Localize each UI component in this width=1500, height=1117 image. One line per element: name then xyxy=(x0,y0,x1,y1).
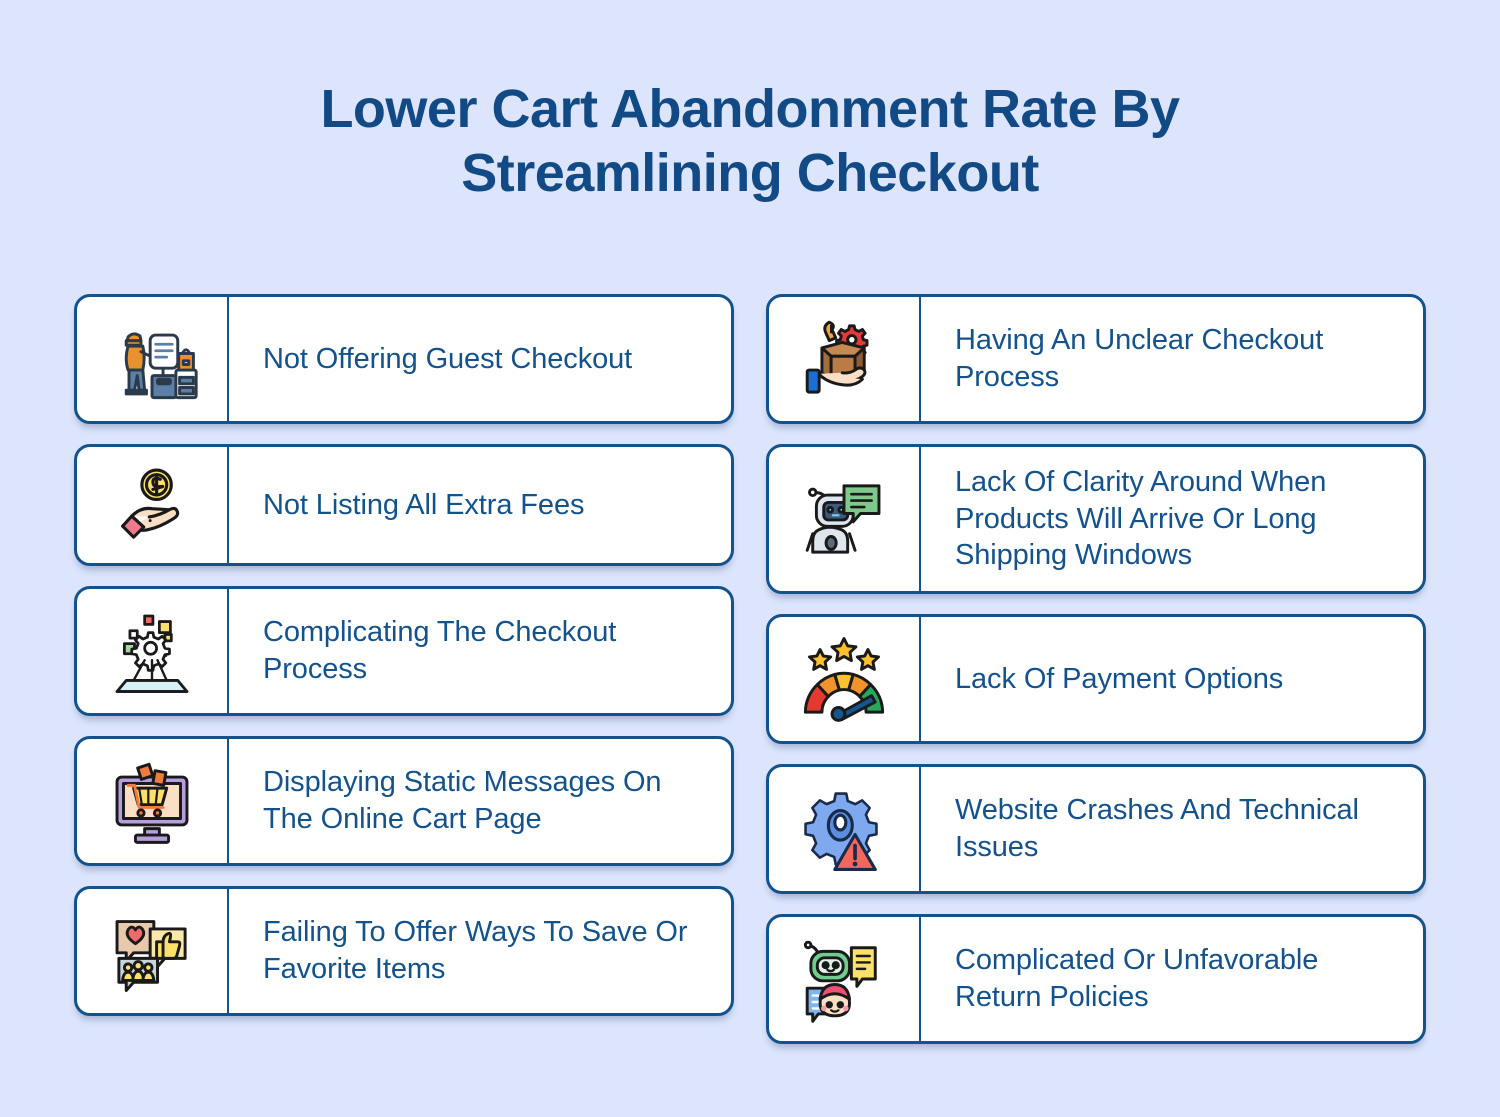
hand-holding-box-tools-icon xyxy=(769,297,921,421)
infographic-page: Lower Cart Abandonment Rate By Streamlin… xyxy=(0,0,1500,1117)
hand-holding-dollar-coin-icon xyxy=(77,447,229,563)
card-lack-of-payment-options[interactable]: Lack Of Payment Options xyxy=(766,614,1426,744)
card-label: Not Offering Guest Checkout xyxy=(229,297,731,421)
gear-data-complexity-icon xyxy=(77,589,229,713)
cards-grid: Not Offering Guest Checkout xyxy=(74,294,1426,1044)
self-checkout-kiosk-icon xyxy=(77,297,229,421)
card-label: Having An Unclear Checkout Process xyxy=(921,297,1423,421)
monitor-shopping-cart-icon xyxy=(77,739,229,863)
card-label: Website Crashes And Technical Issues xyxy=(921,767,1423,891)
rating-gauge-stars-icon xyxy=(769,617,921,741)
card-complicating-the-checkout-process[interactable]: Complicating The Checkout Process xyxy=(74,586,734,716)
card-failing-to-offer-ways-to-save[interactable]: Failing To Offer Ways To Save Or Favorit… xyxy=(74,886,734,1016)
card-label: Complicating The Checkout Process xyxy=(229,589,731,713)
chatbot-message-icon xyxy=(769,447,921,591)
card-having-an-unclear-checkout-process[interactable]: Having An Unclear Checkout Process xyxy=(766,294,1426,424)
card-website-crashes-technical-issues[interactable]: Website Crashes And Technical Issues xyxy=(766,764,1426,894)
gear-warning-error-icon xyxy=(769,767,921,891)
card-not-listing-all-extra-fees[interactable]: Not Listing All Extra Fees xyxy=(74,444,734,566)
card-lack-of-clarity-shipping-windows[interactable]: Lack Of Clarity Around When Products Wil… xyxy=(766,444,1426,594)
card-displaying-static-messages[interactable]: Displaying Static Messages On The Online… xyxy=(74,736,734,866)
cards-column-left: Not Offering Guest Checkout xyxy=(74,294,734,1044)
heart-thumbs-up-chat-icon xyxy=(77,889,229,1013)
card-not-offering-guest-checkout[interactable]: Not Offering Guest Checkout xyxy=(74,294,734,424)
card-label: Lack Of Payment Options xyxy=(921,617,1423,741)
card-label: Lack Of Clarity Around When Products Wil… xyxy=(921,447,1423,591)
cards-column-right: Having An Unclear Checkout Process xyxy=(766,294,1426,1044)
chatbot-customer-support-icon xyxy=(769,917,921,1041)
card-label: Complicated Or Unfavorable Return Polici… xyxy=(921,917,1423,1041)
card-complicated-return-policies[interactable]: Complicated Or Unfavorable Return Polici… xyxy=(766,914,1426,1044)
page-title: Lower Cart Abandonment Rate By Streamlin… xyxy=(200,0,1300,205)
card-label: Failing To Offer Ways To Save Or Favorit… xyxy=(229,889,731,1013)
card-label: Not Listing All Extra Fees xyxy=(229,447,731,563)
card-label: Displaying Static Messages On The Online… xyxy=(229,739,731,863)
